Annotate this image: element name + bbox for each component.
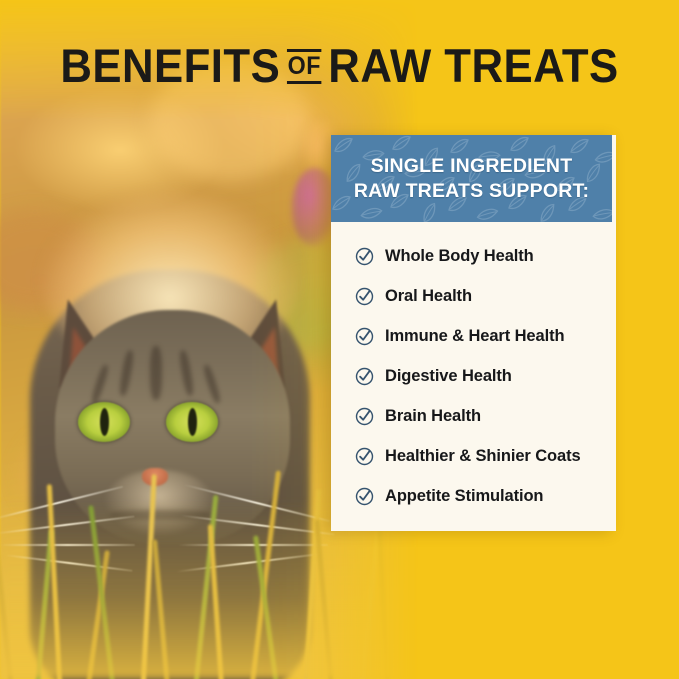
benefit-label: Digestive Health [385, 367, 512, 386]
check-circle-icon [355, 367, 374, 386]
check-circle-icon [355, 247, 374, 266]
card-header-line2: RAW TREATS SUPPORT: [354, 179, 589, 204]
list-item: Healthier & Shinier Coats [331, 436, 616, 476]
title-word-raw-treats: RAW TREATS [328, 42, 618, 89]
benefit-label: Brain Health [385, 407, 481, 426]
benefit-label: Immune & Heart Health [385, 327, 564, 346]
card-header: SINGLE INGREDIENT RAW TREATS SUPPORT: [331, 135, 612, 222]
benefits-card: SINGLE INGREDIENT RAW TREATS SUPPORT: Wh… [331, 135, 616, 531]
list-item: Oral Health [331, 276, 616, 316]
benefit-label: Healthier & Shinier Coats [385, 447, 581, 466]
infographic-canvas: BENEFITSOFRAW TREATS [0, 0, 679, 679]
title-connector-of: OF [287, 49, 322, 84]
benefit-label: Oral Health [385, 287, 472, 306]
card-header-text: SINGLE INGREDIENT RAW TREATS SUPPORT: [354, 154, 589, 204]
list-item: Immune & Heart Health [331, 316, 616, 356]
benefits-list: Whole Body Health Oral Health Immune & H… [331, 222, 616, 516]
check-circle-icon [355, 447, 374, 466]
list-item: Brain Health [331, 396, 616, 436]
title-word-benefits: BENEFITS [60, 42, 280, 89]
benefit-label: Appetite Stimulation [385, 487, 543, 506]
page-title: BENEFITSOFRAW TREATS [24, 38, 655, 89]
card-header-line1: SINGLE INGREDIENT [354, 154, 589, 179]
cat-stripe [150, 346, 162, 400]
benefit-label: Whole Body Health [385, 247, 534, 266]
check-circle-icon [355, 487, 374, 506]
check-circle-icon [355, 327, 374, 346]
list-item: Digestive Health [331, 356, 616, 396]
check-circle-icon [355, 287, 374, 306]
list-item: Whole Body Health [331, 236, 616, 276]
list-item: Appetite Stimulation [331, 476, 616, 516]
check-circle-icon [355, 407, 374, 426]
